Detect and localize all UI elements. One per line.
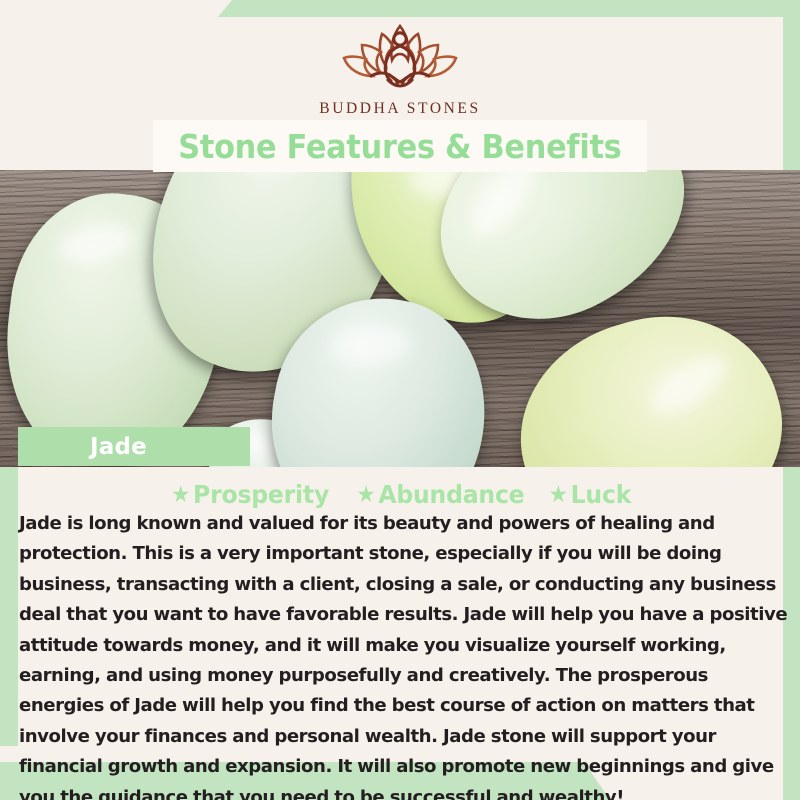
star-icon: ★ xyxy=(549,482,568,508)
benefits-row: ★Prosperity ★Abundance ★Luck xyxy=(0,480,800,509)
stone-info-card: BUDDHA STONES Stone Features & Benefits … xyxy=(0,0,800,800)
benefit-item: ★Abundance xyxy=(356,480,524,509)
benefit-label: Luck xyxy=(571,480,632,509)
benefit-item: ★Luck xyxy=(549,480,632,509)
benefit-label: Prosperity xyxy=(193,480,329,509)
star-icon: ★ xyxy=(171,482,190,508)
benefit-label: Abundance xyxy=(378,480,524,509)
page-title: Stone Features & Benefits xyxy=(178,127,621,166)
stone-photo xyxy=(0,170,800,467)
stone-description: Jade is long known and valued for its be… xyxy=(19,509,791,800)
brand-name: BUDDHA STONES xyxy=(0,100,800,118)
star-icon: ★ xyxy=(356,482,375,508)
benefit-item: ★Prosperity xyxy=(171,480,329,509)
header-banner: Stone Features & Benefits xyxy=(153,120,647,172)
lotus-meditation-icon xyxy=(326,14,474,96)
stone-name-text: Jade xyxy=(90,434,147,460)
stone-name-label: Jade xyxy=(18,427,250,466)
brand-logo: BUDDHA STONES xyxy=(0,14,800,118)
